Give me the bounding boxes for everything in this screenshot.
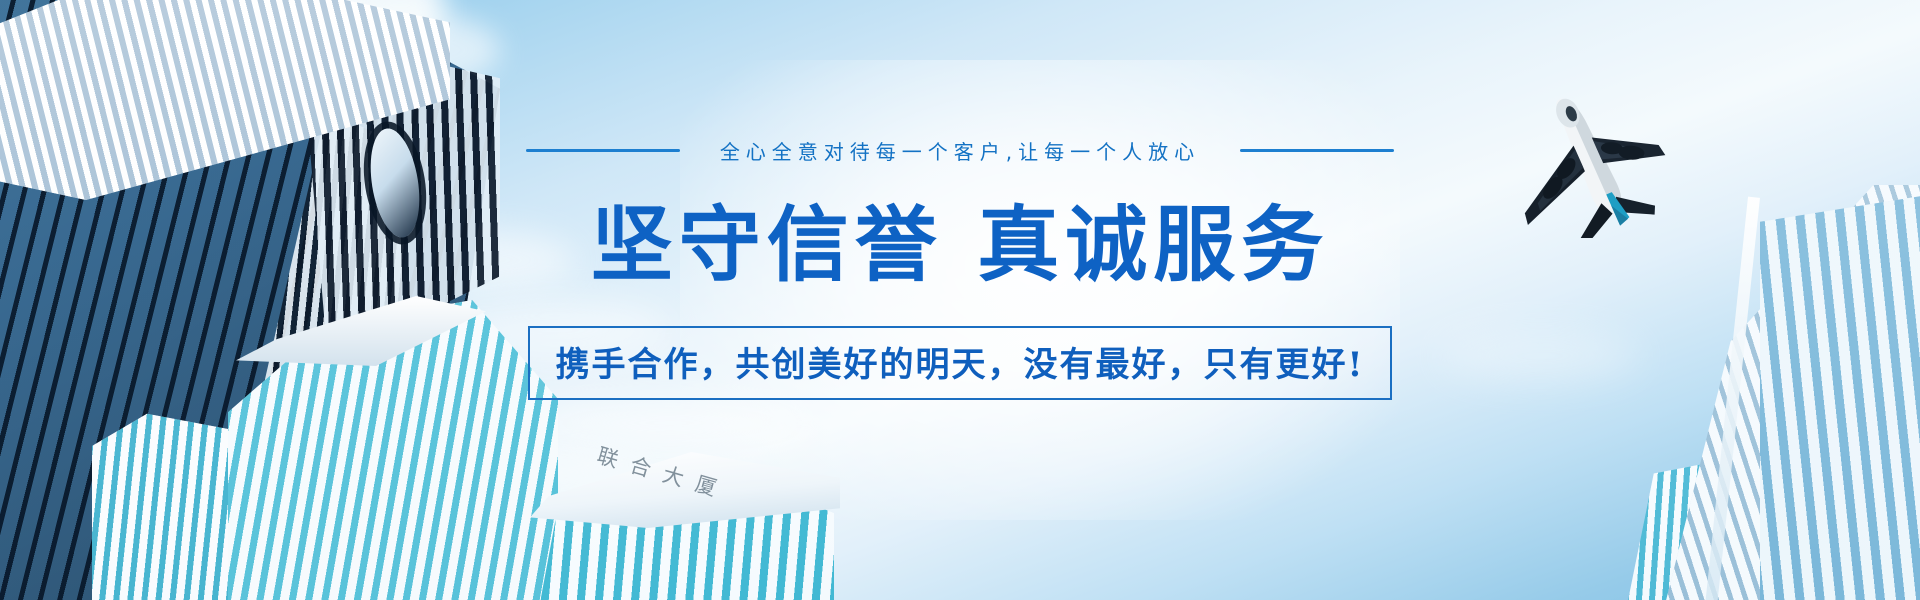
tagline-row: 全心全意对待每一个客户,让每一个人放心 [0,136,1920,165]
subheadline-container: 携手合作，共创美好的明天，没有最好，只有更好! [0,326,1920,400]
banner-tagline: 全心全意对待每一个客户,让每一个人放心 [720,136,1200,165]
divider-line-right-icon [1240,149,1394,152]
banner-subheadline: 携手合作，共创美好的明天，没有最好，只有更好! [528,326,1393,400]
divider-line-left-icon [526,149,680,152]
banner-text-content: 全心全意对待每一个客户,让每一个人放心 坚守信誉 真诚服务 携手合作，共创美好的… [0,0,1920,600]
hero-banner: 联合大厦 [0,0,1920,600]
banner-headline: 坚守信誉 真诚服务 [0,204,1920,286]
